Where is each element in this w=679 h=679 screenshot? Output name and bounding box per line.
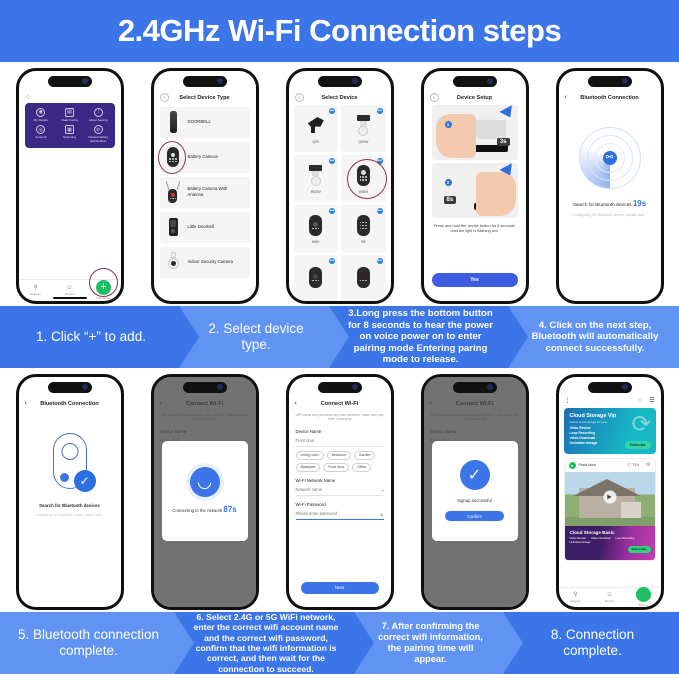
search-status-text: Search for Bluetooth devices (573, 202, 632, 207)
tab-add-device[interactable]: + Add me (627, 587, 661, 607)
caption-step-3: 3.Long press the bottom button for 8 sec… (330, 306, 509, 368)
tab-service[interactable]: ☺ Service (593, 592, 627, 603)
phone-5-bluetooth-searching: ‹ Bluetooth Connection ⚯ Search for Blue… (556, 68, 664, 304)
battery-icon: ◫ (627, 463, 630, 467)
tab-label: Devices (30, 292, 41, 296)
caption-step-8: 8. Connection complete. (504, 612, 679, 674)
subscribe-button[interactable]: Subscribe (628, 546, 651, 553)
wifi-form: Device Name Front door Living room Bedro… (296, 429, 384, 520)
device-label: R50W (311, 190, 321, 194)
phone-cell-8: ‹ Connect Wi-Fi WiFi name and password a… (274, 371, 405, 612)
home-indicator (53, 297, 87, 299)
connecting-label: Connecting to the network (172, 508, 222, 513)
bluetooth-badge-icon: ⚯ (329, 208, 335, 214)
tab-label: Add me (639, 603, 649, 607)
chevron-right-icon (329, 306, 349, 368)
device-label: Q00 (312, 140, 319, 144)
search-sub-text: Configuring the bluetooth device, please… (565, 213, 655, 217)
phone-row-top: ♢ ◉ My Device ▤ Clear Cache ! About Seei… (0, 62, 679, 306)
nav-bar: ‹ Select Device Type (154, 91, 256, 105)
phone-1-home: ♢ ◉ My Device ▤ Clear Cache ! About Seei… (16, 68, 124, 304)
nav-bar: ‹ Select Device (289, 91, 391, 105)
list-item-label: Indoor Security Camera (188, 259, 233, 265)
little-doorbell-icon (166, 214, 181, 240)
chevron-right-icon (174, 612, 194, 674)
highlight-ring-add (89, 268, 118, 297)
room-tag[interactable]: Garden (354, 451, 376, 460)
back-arrow-icon[interactable]: ‹ (295, 400, 304, 407)
devices-icon: ⚲ (33, 284, 37, 291)
bluetooth-icon: ⚯ (603, 151, 617, 165)
basic-title: Cloud Storage Basic (570, 530, 650, 535)
countdown-seconds: 19s (633, 199, 646, 208)
chevron-right-icon (179, 306, 199, 368)
settings-grid: ◉ My Device ▤ Clear Cache ! About Seeing… (25, 103, 115, 149)
success-text: Signup successful (457, 498, 492, 503)
network-name-label: Wi-Fi Network Name (296, 478, 384, 483)
back-arrow-icon[interactable]: ‹ (160, 93, 169, 102)
phone-notch (453, 382, 497, 393)
nav-bar: ‹ Bluetooth Connection (19, 397, 121, 411)
bluetooth-badge-icon: ⚯ (377, 108, 383, 114)
nav-bar: ‹ Device Setup (424, 91, 526, 105)
screen-title: Bluetooth Connection (19, 401, 121, 407)
grid-item-account[interactable]: ◎ Account (27, 125, 56, 143)
caption-row-2: 5. Bluetooth connection complete. 6. Sel… (0, 612, 679, 674)
room-tag-list: Living room Bedroom Garden Backyard Fron… (296, 451, 384, 472)
settings-icon[interactable]: ⚙ (646, 462, 650, 468)
nav-bar: ‹ Bluetooth Connection (559, 91, 661, 105)
device-type-list: DOORBELL Battery Camera Battery Camer (160, 107, 250, 278)
phone-row-bottom: ‹ Bluetooth Connection ✓ Search for Blue… (0, 368, 679, 612)
bell-icon[interactable]: ♢ (26, 94, 31, 101)
caption-step-6: 6. Select 2.4G or 5G WiFi network, enter… (175, 612, 355, 674)
grid-label: Account (35, 136, 46, 140)
nav-bar: ‹ Connect Wi-Fi (289, 397, 391, 411)
block-icon: ⊘ (94, 125, 103, 134)
page-header: 2.4GHz Wi-Fi Connection steps (0, 0, 679, 62)
caption-text: 4. Click on the next step, Bluetooth wil… (525, 320, 665, 355)
yes-button[interactable]: Yes (432, 273, 518, 287)
tab-service[interactable]: ☺ Service (53, 285, 87, 296)
setup-illustrations: 1 3s 2 8s (432, 105, 518, 218)
highlight-ring-selected-device (347, 159, 387, 199)
phone-10-dashboard: ⋮ ♢ ☰ Cloud Storage Vip Secure cloud sto… (556, 374, 664, 610)
phone-cell-7: ‹ Connect Wi-Fi WiFi name and password a… (139, 371, 270, 612)
phone-9-signup-success: ‹ Connect Wi-Fi WiFi name and password a… (421, 374, 529, 610)
connecting-modal: ◡ Connecting to the network 87s (162, 441, 248, 541)
battery-camera-icon (307, 264, 325, 290)
grid-item-battery-optimization[interactable]: ⊘ Cancel battery optimization (84, 125, 113, 143)
battery-camera-icon (307, 212, 325, 238)
account-icon: ◎ (36, 125, 45, 134)
more-vertical-icon[interactable]: ⋮ (565, 397, 571, 404)
device-label: Q50W (358, 140, 368, 144)
list-item[interactable]: Little Doorbell (160, 212, 250, 243)
cloud-storage-basic-card[interactable]: Cloud Storage Basic Video Review Video D… (565, 526, 655, 560)
grid-label: About Seeing (89, 119, 108, 123)
scan-icon: ▦ (65, 125, 74, 134)
list-item[interactable]: Indoor Security Camera (160, 247, 250, 278)
search-status-text: Search for Bluetooth devices (25, 503, 115, 508)
search-sub-text: Configuring the bluetooth device, please… (25, 513, 115, 517)
phone-notch (183, 382, 227, 393)
subscribe-button[interactable]: Subscribe (625, 441, 651, 448)
list-item[interactable]: Battery Camera With Antenna (160, 177, 250, 208)
check-circle-icon: ✓ (460, 460, 490, 490)
grid-item-clear-cache[interactable]: ▤ Clear Cache (55, 108, 84, 123)
phone-cell-3: ‹ Select Device ⚯ Q00 ⚯ (274, 65, 405, 306)
highlight-ring-battery-camera (158, 141, 186, 174)
device-grid: ⚯ Q00 ⚯ (294, 105, 386, 302)
device-card[interactable]: ⚯ R8 (341, 205, 386, 252)
phone-notch (318, 382, 362, 393)
grid-item-my-device[interactable]: ◉ My Device (27, 108, 56, 123)
caption-step-1: 1. Click “+” to add. (0, 306, 180, 368)
camera-card-header: ● Front door ◫ 73% ⚙ (565, 459, 655, 472)
room-tag[interactable]: Bedroom (327, 451, 351, 460)
basic-feature: Loop Recording (615, 537, 634, 540)
device-card-selected[interactable]: ⚯ W5E9 (341, 155, 386, 202)
device-icon: ◉ (36, 108, 45, 117)
timer-badge: 3s (497, 138, 510, 146)
battery-status: ◫ 73% (627, 463, 639, 467)
caption-text: 3.Long press the bottom button for 8 sec… (346, 308, 495, 366)
play-icon[interactable]: ▶ (603, 491, 616, 504)
phone-2-select-device-type: ‹ Select Device Type DOORBELL Battery Ca… (151, 68, 259, 304)
eye-icon[interactable]: ◉ (380, 512, 384, 517)
caption-text: 2. Select device type. (196, 321, 316, 353)
device-lens-outline (61, 443, 78, 460)
back-arrow-icon[interactable]: ‹ (565, 94, 574, 101)
camera-preview[interactable]: ▶ (565, 472, 655, 526)
list-icon[interactable]: ☰ (649, 397, 654, 404)
phone-notch (318, 76, 362, 87)
room-tag[interactable]: Backyard (296, 463, 321, 472)
list-item-label: DOORBELL (188, 119, 211, 125)
gun-camera-icon (307, 112, 325, 138)
chevron-right-icon (354, 612, 374, 674)
device-card[interactable]: ⚯ Q50W (341, 105, 386, 152)
phone-notch (183, 76, 227, 87)
device-card[interactable]: ⚯ Q00 (294, 105, 339, 152)
grid-label: My Device (34, 119, 48, 123)
room-tag[interactable]: Front door (323, 463, 349, 472)
doorbell-icon (166, 109, 181, 135)
device-name-label: Device Name (296, 429, 384, 434)
bluetooth-badge-icon: ⚯ (377, 258, 383, 264)
battery-level: 73% (632, 463, 639, 467)
list-item-label: Battery Camera With Antenna (187, 186, 243, 197)
caption-text: 1. Click “+” to add. (36, 329, 146, 345)
list-item-label: Battery Camera (188, 154, 218, 160)
phone-notch (453, 76, 497, 87)
timer-badge: 8s (444, 196, 457, 204)
screen-title: Device Setup (424, 95, 526, 101)
wifi-icon: ◡ (190, 467, 220, 497)
cache-icon: ▤ (65, 108, 74, 117)
grid-label: Cancel battery optimization (84, 136, 113, 143)
success-modal: ✓ Signup successful Confirm (432, 441, 518, 541)
camera-name: Front door (579, 463, 597, 467)
phone-cell-1: ♢ ◉ My Device ▤ Clear Cache ! About Seei… (4, 65, 135, 306)
chevron-down-icon[interactable]: ▾ (381, 488, 383, 493)
phone-notch (588, 382, 632, 393)
setup-step-1-image: 1 3s (432, 105, 518, 160)
bluetooth-badge-icon: ⚯ (329, 108, 335, 114)
caption-text: 5. Bluetooth connection complete. (16, 627, 161, 659)
basic-feature-list: Video Review Video Download Loop Recordi… (570, 537, 650, 544)
cloud-sync-icon: ⟳ (631, 410, 651, 439)
caption-row-1: 1. Click “+” to add. 2. Select device ty… (0, 306, 679, 368)
phone-cell-10: ⋮ ♢ ☰ Cloud Storage Vip Secure cloud sto… (544, 371, 675, 612)
caption-step-2: 2. Select device type. (180, 306, 330, 368)
phone-notch (588, 76, 632, 87)
basic-feature: Video Download (591, 537, 611, 540)
wifi-hint: WiFi name and password are case sensitiv… (296, 413, 384, 423)
confirm-button[interactable]: Confirm (445, 511, 504, 521)
lawn (565, 517, 655, 526)
check-circle-icon: ✓ (74, 470, 96, 492)
battery-camera-icon (354, 264, 372, 290)
phone-4-device-setup: ‹ Device Setup 1 3s (421, 68, 529, 304)
countdown-seconds: 87s (223, 505, 236, 514)
phone-cell-4: ‹ Device Setup 1 3s (409, 65, 540, 306)
dashboard-top-bar: ⋮ ♢ ☰ (559, 395, 661, 404)
phone-notch (48, 382, 92, 393)
grid-label: Clear Cache (61, 119, 78, 123)
step-badge: 2 (445, 179, 452, 186)
page-title: 2.4GHz Wi-Fi Connection steps (118, 13, 561, 49)
screen-title: Select Device Type (154, 95, 256, 101)
bell-icon[interactable]: ♢ (638, 397, 643, 404)
device-outline-illustration: ✓ (53, 433, 87, 489)
setup-instruction: Press and hold the device button for 8 s… (432, 223, 518, 235)
phone-cell-6: ‹ Bluetooth Connection ✓ Search for Blue… (4, 371, 135, 612)
caption-step-4: 4. Click on the next step, Bluetooth wil… (509, 306, 679, 368)
chevron-right-icon (508, 306, 528, 368)
room-tag[interactable]: Living room (296, 451, 324, 460)
caption-text: 7. After confirming the correct wifi inf… (371, 621, 490, 665)
password-field[interactable]: Please enter password ◉ (296, 511, 384, 520)
device-card[interactable]: ⚯ (294, 255, 339, 302)
device-base (474, 145, 508, 152)
phone-7-connecting-network: ‹ Connect Wi-Fi WiFi name and password a… (151, 374, 259, 610)
network-name-input[interactable]: Network name (296, 487, 384, 496)
device-card[interactable]: ⚯ W5K (294, 205, 339, 252)
antenna-camera-icon (166, 179, 181, 205)
chevron-right-icon (503, 612, 523, 674)
grid-label: Scanning (63, 136, 76, 140)
device-label: R8 (361, 240, 366, 244)
password-label: Wi-Fi Password (296, 502, 384, 507)
network-name-field[interactable]: Network name ▾ (296, 487, 384, 496)
tab-devices[interactable]: ⚲ Devices (19, 284, 53, 296)
caption-text: 8. Connection complete. (520, 627, 665, 659)
bluetooth-badge-icon: ⚯ (329, 258, 335, 264)
phone-cell-2: ‹ Select Device Type DOORBELL Battery Ca… (139, 65, 270, 306)
step-badge: 1 (445, 121, 452, 128)
phone-6-bluetooth-complete: ‹ Bluetooth Connection ✓ Search for Blue… (16, 374, 124, 610)
online-icon: ● (569, 462, 576, 469)
bulb-camera-icon (307, 162, 325, 188)
bottom-tab-bar: ⚲ Devices ☺ Service + Add me (559, 587, 661, 607)
phone-3-select-device: ‹ Select Device ⚯ Q00 ⚯ (286, 68, 394, 304)
phone-cell-9: ‹ Connect Wi-Fi WiFi name and password a… (409, 371, 540, 612)
grid-item-about[interactable]: ! About Seeing (84, 108, 113, 123)
basic-feature: Unlimited storage (570, 541, 591, 544)
service-icon: ☺ (606, 592, 612, 598)
screen-title: Bluetooth Connection (559, 95, 661, 101)
keypad-camera-icon (354, 212, 372, 238)
bluetooth-badge-icon: ⚯ (377, 208, 383, 214)
next-button[interactable]: Next (301, 582, 379, 594)
back-arrow-icon[interactable]: ‹ (430, 93, 439, 102)
tab-devices[interactable]: ⚲ Devices (559, 591, 593, 603)
tab-label: Service (64, 292, 74, 296)
tab-label: Service (605, 599, 615, 603)
connecting-text: Connecting to the network 87s (172, 505, 237, 514)
back-arrow-icon[interactable]: ‹ (295, 93, 304, 102)
hand-illustration (476, 172, 516, 216)
grid-item-scanning[interactable]: ▦ Scanning (55, 125, 84, 143)
device-name-input[interactable]: Front door (296, 438, 384, 447)
search-status: Search for Bluetooth devices 19s (565, 199, 655, 208)
service-icon: ☺ (66, 285, 72, 291)
cloud-storage-vip-card[interactable]: Cloud Storage Vip Secure cloud storage f… (564, 408, 656, 454)
phone-cell-5: ‹ Bluetooth Connection ⚯ Search for Blue… (544, 65, 675, 306)
bluetooth-badge-icon: ⚯ (329, 158, 335, 164)
password-input[interactable]: Please enter password (296, 511, 384, 520)
device-card[interactable]: ⚯ R50W (294, 155, 339, 202)
room-tag[interactable]: Office (352, 463, 371, 472)
list-item[interactable]: Battery Camera (160, 142, 250, 173)
caption-step-5: 5. Bluetooth connection complete. (0, 612, 175, 674)
screen-title: Select Device (289, 95, 391, 101)
bulb-camera-icon (354, 112, 372, 138)
tab-label: Devices (570, 599, 580, 603)
caption-step-7: 7. After confirming the correct wifi inf… (355, 612, 504, 674)
back-arrow-icon[interactable]: ‹ (25, 400, 34, 407)
hand-illustration (436, 114, 476, 158)
caption-text: 6. Select 2.4G or 5G WiFi network, enter… (191, 612, 341, 674)
setup-step-2-image: 2 8s (432, 163, 518, 218)
screen-title: Connect Wi-Fi (289, 401, 391, 407)
device-puck (476, 117, 506, 139)
basic-feature: Video Review (570, 537, 586, 540)
device-label: W5K (312, 240, 320, 244)
tab-label: Add device (96, 296, 111, 300)
radar-animation: ⚯ (579, 127, 641, 189)
plus-icon[interactable]: + (636, 587, 651, 602)
list-item-label: Little Doorbell (188, 224, 214, 230)
device-card[interactable]: ⚯ (341, 255, 386, 302)
list-item[interactable]: DOORBELL (160, 107, 250, 138)
phone-8-wifi-form: ‹ Connect Wi-Fi WiFi name and password a… (286, 374, 394, 610)
camera-card[interactable]: ● Front door ◫ 73% ⚙ ▶ (564, 458, 656, 561)
devices-icon: ⚲ (573, 591, 577, 598)
phone-notch (48, 76, 92, 87)
device-indicator-dot (60, 473, 69, 482)
info-icon: ! (94, 108, 103, 117)
indoor-camera-icon (166, 249, 181, 275)
garage-illustration (621, 502, 641, 518)
